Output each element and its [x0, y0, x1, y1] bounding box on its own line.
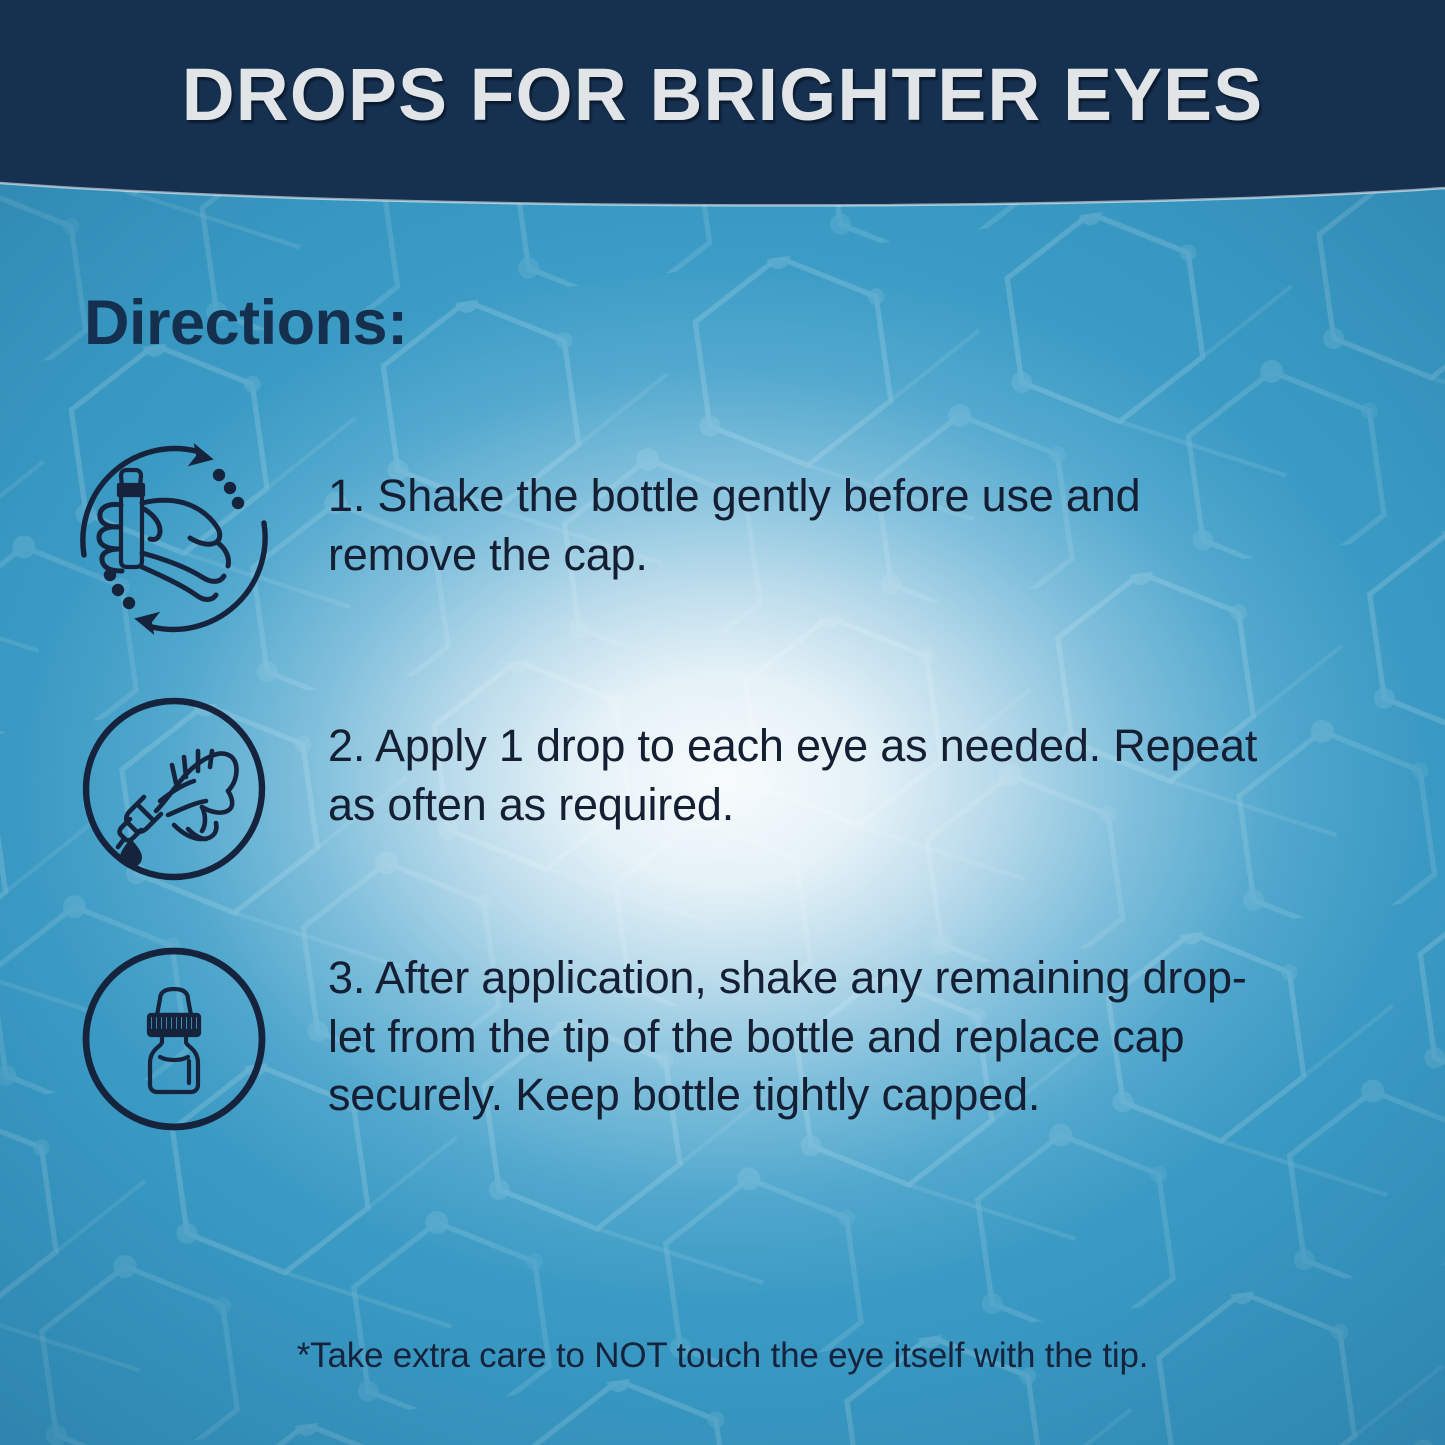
list-item: 3. After application, shake any remainin… [78, 943, 1378, 1135]
header-bar: DROPS FOR BRIGHTER EYES [0, 0, 1445, 215]
capped-bottle-icon [78, 943, 270, 1135]
step-text: 2. Apply 1 drop to each eye as needed. R… [328, 693, 1378, 834]
hand-shaking-bottle-icon [78, 443, 270, 635]
infographic-canvas: DROPS FOR BRIGHTER EYES Directions: [0, 0, 1445, 1445]
step-text: 1. Shake the bottle gently before use an… [328, 443, 1378, 584]
hand-squeezing-drop-icon [78, 693, 270, 885]
step-text: 3. After application, shake any remainin… [328, 943, 1378, 1125]
list-item: 2. Apply 1 drop to each eye as needed. R… [78, 693, 1378, 885]
directions-heading: Directions: [84, 292, 408, 355]
footnote-warning: *Take extra care to NOT touch the eye it… [0, 1337, 1445, 1376]
list-item: 1. Shake the bottle gently before use an… [78, 443, 1378, 635]
page-title: DROPS FOR BRIGHTER EYES [7, 58, 1438, 132]
